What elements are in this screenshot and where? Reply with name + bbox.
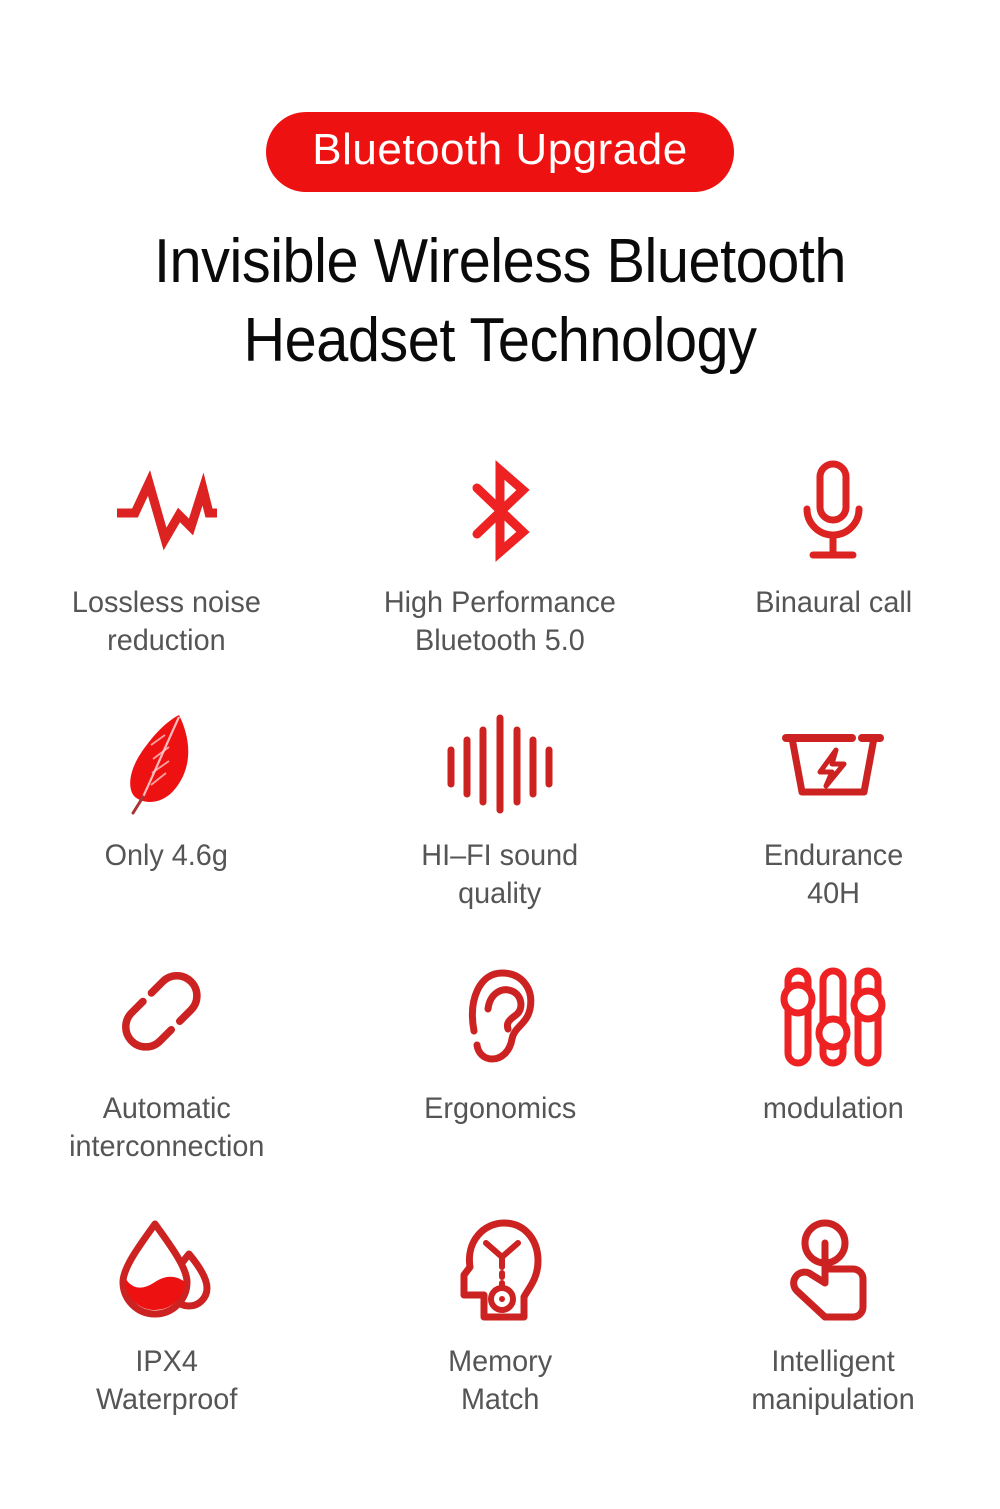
- feature-item-auto-interconnection: Automatic interconnection: [0, 958, 333, 1211]
- feature-label: HI–FI sound quality: [422, 837, 579, 914]
- feature-item-modulation: modulation: [667, 958, 1000, 1211]
- feature-label: Binaural call: [755, 584, 912, 622]
- feature-item-intelligent-manipulation: Intelligent manipulation: [667, 1211, 1000, 1464]
- feature-label: Intelligent manipulation: [752, 1343, 915, 1420]
- feature-label: Memory Match: [448, 1343, 552, 1420]
- feature-grid: Lossless noise reduction High Performanc…: [0, 452, 1000, 1464]
- head-memory-icon: [452, 1211, 548, 1329]
- feature-item-endurance: Endurance 40H: [667, 705, 1000, 958]
- feature-label: High Performance Bluetooth 5.0: [384, 584, 616, 661]
- feature-item-binaural-call: Binaural call: [667, 452, 1000, 705]
- waveform-icon: [113, 452, 221, 570]
- header: Bluetooth Upgrade Invisible Wireless Blu…: [0, 0, 1000, 381]
- battery-bolt-icon: [778, 705, 888, 823]
- bluetooth-upgrade-badge: Bluetooth Upgrade: [266, 112, 733, 192]
- feature-item-ergonomics: Ergonomics: [333, 958, 666, 1211]
- feature-label: Lossless noise reduction: [72, 584, 261, 661]
- equalizer-bars-icon: [442, 705, 558, 823]
- water-drops-icon: [113, 1211, 221, 1329]
- feature-item-hifi-sound: HI–FI sound quality: [333, 705, 666, 958]
- feature-label: Only 4.6g: [105, 837, 228, 875]
- feather-icon: [119, 705, 215, 823]
- feature-label: Automatic interconnection: [69, 1090, 264, 1167]
- page-title-line-1: Invisible Wireless Bluetooth: [82, 222, 919, 301]
- chain-link-icon: [115, 958, 219, 1076]
- feature-item-memory-match: Memory Match: [333, 1211, 666, 1464]
- bluetooth-icon: [457, 452, 543, 570]
- feature-label: IPX4 Waterproof: [96, 1343, 237, 1420]
- ear-icon: [458, 958, 542, 1076]
- sliders-icon: [780, 958, 886, 1076]
- page-title: Invisible Wireless Bluetooth Headset Tec…: [82, 222, 919, 381]
- feature-item-waterproof: IPX4 Waterproof: [0, 1211, 333, 1464]
- tap-hand-icon: [785, 1211, 881, 1329]
- feature-item-weight: Only 4.6g: [0, 705, 333, 958]
- feature-label: modulation: [763, 1090, 904, 1128]
- feature-label: Endurance 40H: [764, 837, 903, 914]
- feature-item-bluetooth-5: High Performance Bluetooth 5.0: [333, 452, 666, 705]
- microphone-icon: [793, 452, 873, 570]
- feature-label: Ergonomics: [424, 1090, 576, 1128]
- page-title-line-2: Headset Technology: [82, 301, 919, 380]
- feature-item-lossless-noise-reduction: Lossless noise reduction: [0, 452, 333, 705]
